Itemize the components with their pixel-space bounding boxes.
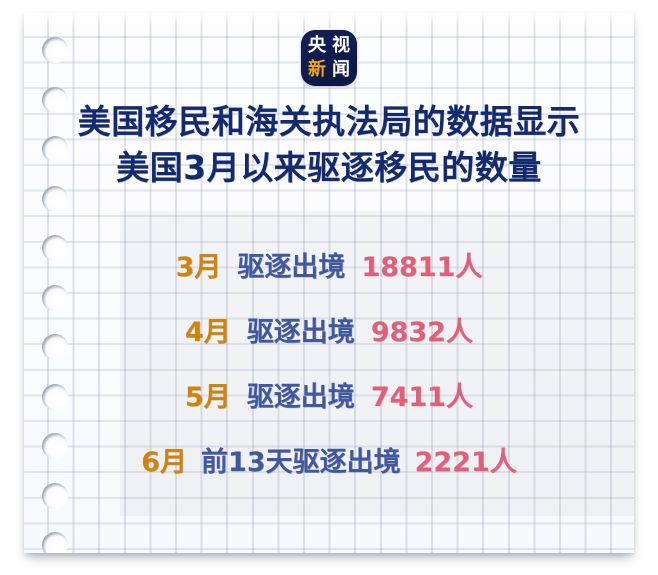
logo-char-xin: 新 <box>308 61 326 79</box>
binder-hole <box>42 532 68 553</box>
logo-container: 央 视 新 闻 <box>24 30 634 86</box>
logo-char-shi: 视 <box>332 37 350 55</box>
stat-month: 4月 <box>185 310 231 349</box>
notebook-page: 央 视 新 闻 美国移民和海关执法局的数据显示 美国3月以来驱逐移民的数量 3月… <box>24 13 634 553</box>
page-sheen <box>24 13 634 27</box>
stat-count: 7411人 <box>371 375 473 414</box>
stat-action: 驱逐出境 <box>247 310 355 349</box>
stat-row: 5月 驱逐出境 7411人 <box>24 375 634 440</box>
stats-list: 3月 驱逐出境 18811人 4月 驱逐出境 9832人 5月 驱逐出境 741… <box>24 245 634 505</box>
stat-action: 前13天驱逐出境 <box>201 440 401 479</box>
stat-row: 6月 前13天驱逐出境 2221人 <box>24 440 634 505</box>
stat-action: 驱逐出境 <box>237 245 345 284</box>
stat-month: 5月 <box>185 375 231 414</box>
stat-row: 4月 驱逐出境 9832人 <box>24 310 634 375</box>
logo-char-yang: 央 <box>308 37 326 55</box>
stat-action: 驱逐出境 <box>247 375 355 414</box>
stat-row: 3月 驱逐出境 18811人 <box>24 245 634 310</box>
cctv-news-logo[interactable]: 央 视 新 闻 <box>301 30 357 86</box>
headline-line-2: 美国3月以来驱逐移民的数量 <box>24 145 634 191</box>
headline-line-1: 美国移民和海关执法局的数据显示 <box>24 99 634 145</box>
stat-month: 3月 <box>176 245 222 284</box>
stat-count: 2221人 <box>415 440 517 479</box>
headline: 美国移民和海关执法局的数据显示 美国3月以来驱逐移民的数量 <box>24 99 634 191</box>
logo-char-wen: 闻 <box>332 61 350 79</box>
poster-canvas: 央 视 新 闻 美国移民和海关执法局的数据显示 美国3月以来驱逐移民的数量 3月… <box>0 0 658 575</box>
stat-month: 6月 <box>141 440 187 479</box>
stat-count: 18811人 <box>361 245 482 284</box>
stat-count: 9832人 <box>371 310 473 349</box>
